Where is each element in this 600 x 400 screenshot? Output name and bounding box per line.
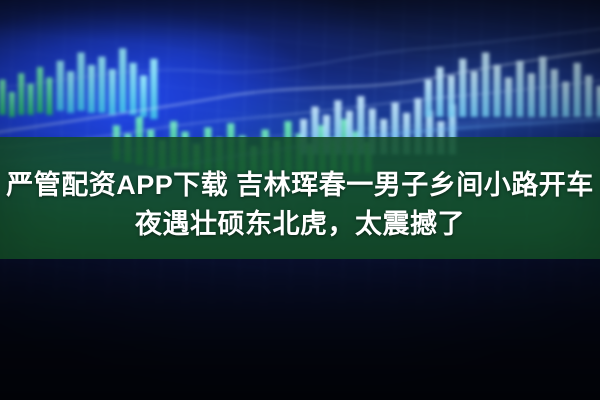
headline: 严管配资APP下载 吉林珲春一男子乡间小路开车 夜遇壮硕东北虎，太震撼了: [0, 166, 600, 244]
headline-line-2: 夜遇壮硕东北虎，太震撼了: [0, 205, 600, 244]
news-banner: 严管配资APP下载 吉林珲春一男子乡间小路开车 夜遇壮硕东北虎，太震撼了: [0, 0, 600, 400]
headline-line-1: 严管配资APP下载 吉林珲春一男子乡间小路开车: [0, 166, 600, 205]
